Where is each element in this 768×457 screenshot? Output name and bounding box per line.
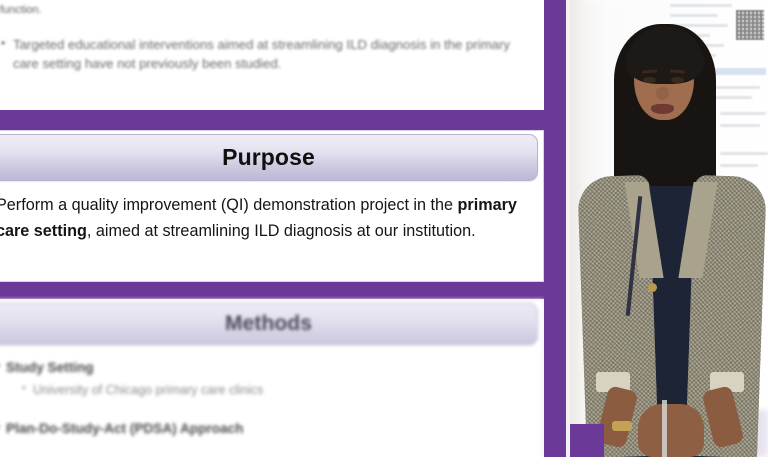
methods-spacer (0, 399, 529, 419)
video-frame: function. Targeted educational intervent… (0, 0, 768, 457)
shared-slide-panel: function. Targeted educational intervent… (0, 0, 570, 457)
methods-header-bar: Methods (0, 303, 538, 345)
methods-section: Methods Study Setting University of Chic… (0, 299, 544, 457)
methods-subbullet-1: University of Chicago primary care clini… (22, 381, 529, 399)
qr-code-icon (736, 10, 764, 40)
poster-text-line (670, 4, 732, 7)
methods-bullet-1: Study Setting (0, 358, 529, 377)
purpose-body-text: Perform a quality improvement (QI) demon… (0, 193, 527, 244)
presenter-eye-left (643, 77, 656, 83)
poster-text-line (720, 112, 766, 115)
methods-body: Study Setting University of Chicago prim… (0, 345, 543, 438)
background-tail-line: function. (0, 4, 530, 17)
background-section: function. Targeted educational intervent… (0, 0, 544, 112)
presenter-nose (656, 87, 669, 100)
purpose-header-bar: Purpose (0, 134, 538, 181)
purple-divider-middle (0, 282, 560, 299)
methods-bullet-2: Plan-Do-Study-Act (PDSA) Approach (0, 419, 529, 438)
poster-text-line (720, 124, 760, 127)
purpose-section: Purpose Perform a quality improvement (Q… (0, 130, 544, 282)
poster-text-line (720, 152, 768, 155)
purpose-text-tail: , aimed at streamlining ILD diagnosis at… (87, 222, 476, 240)
presenter-blazer-button (648, 283, 657, 292)
poster-text-line (720, 164, 758, 167)
presenter-eye-right (671, 77, 684, 83)
purple-divider-top (0, 110, 560, 130)
background-bullet: Targeted educational interventions aimed… (0, 35, 530, 73)
methods-header-title: Methods (225, 312, 312, 336)
presenter-hands (638, 404, 704, 457)
presenter-mouth (651, 104, 674, 114)
poster-purple-bleed-bottom (570, 424, 604, 457)
purpose-header-title: Purpose (222, 144, 315, 171)
presenter-webcam: 1. (570, 0, 768, 457)
purpose-text-lead: Perform a quality improvement (QI) demon… (0, 196, 458, 214)
poster-text-line (670, 14, 718, 17)
presenter-wristwatch (612, 421, 632, 431)
presenter-badge-cord (662, 400, 667, 457)
purpose-body: Perform a quality improvement (QI) demon… (0, 181, 543, 254)
